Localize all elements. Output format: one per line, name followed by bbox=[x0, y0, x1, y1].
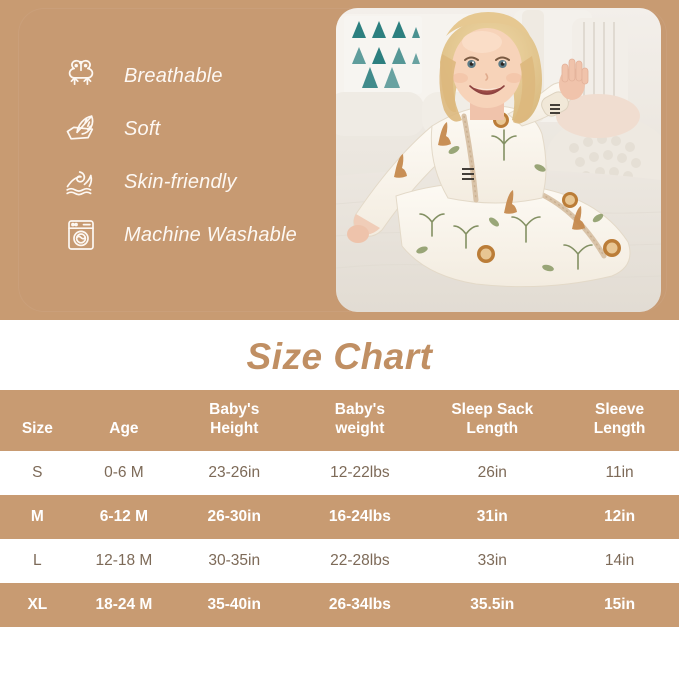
cell-age: 12-18 M bbox=[75, 539, 173, 583]
table-row: M 6-12 M 26-30in 16-24lbs 31in 12in bbox=[0, 495, 679, 539]
feather-soft-icon bbox=[58, 107, 104, 151]
feature-item-breathable: Breathable bbox=[58, 50, 338, 102]
feature-item-skin-friendly: Skin-friendly bbox=[58, 156, 338, 208]
breathable-icon bbox=[58, 54, 104, 98]
cell-sack-length: 35.5in bbox=[424, 583, 560, 627]
cell-weight: 22-28lbs bbox=[295, 539, 424, 583]
cell-weight: 26-34lbs bbox=[295, 583, 424, 627]
column-header-age-label: Age bbox=[109, 420, 138, 437]
cell-sleeve-length: 14in bbox=[560, 539, 679, 583]
feature-list: Breathable Soft bbox=[58, 50, 338, 262]
column-header-sleep-sack-length: Sleep Sack Length bbox=[424, 390, 560, 451]
size-chart-table-body: S 0-6 M 23-26in 12-22lbs 26in 11in M 6-1… bbox=[0, 451, 679, 627]
cell-size: S bbox=[0, 451, 75, 495]
column-header-age: Age bbox=[75, 390, 173, 451]
feature-label: Machine Washable bbox=[124, 224, 297, 247]
product-photo bbox=[336, 8, 661, 312]
feature-item-machine-washable: Machine Washable bbox=[58, 209, 338, 261]
column-header-sack-line2: Length bbox=[466, 420, 518, 437]
size-chart-section: Size Chart Size Age Baby's Height Baby's bbox=[0, 320, 679, 678]
size-chart-table: Size Age Baby's Height Baby's weight Sle… bbox=[0, 390, 679, 627]
column-header-baby-height: Baby's Height bbox=[173, 390, 295, 451]
feature-item-soft: Soft bbox=[58, 103, 338, 155]
column-header-height-line1: Baby's bbox=[209, 401, 259, 418]
column-header-height-line2: Height bbox=[210, 420, 258, 437]
table-row: XL 18-24 M 35-40in 26-34lbs 35.5in 15in bbox=[0, 583, 679, 627]
column-header-sleeve-length: Sleeve Length bbox=[560, 390, 679, 451]
cell-sack-length: 26in bbox=[424, 451, 560, 495]
column-header-sack-line1: Sleep Sack bbox=[451, 401, 533, 418]
column-header-size-label: Size bbox=[22, 420, 53, 437]
cell-height: 26-30in bbox=[173, 495, 295, 539]
feature-label: Skin-friendly bbox=[124, 171, 237, 194]
column-header-weight-line2: weight bbox=[335, 420, 384, 437]
cell-sleeve-length: 11in bbox=[560, 451, 679, 495]
cell-sack-length: 31in bbox=[424, 495, 560, 539]
feature-label: Breathable bbox=[124, 65, 223, 88]
cell-size: M bbox=[0, 495, 75, 539]
cell-sleeve-length: 12in bbox=[560, 495, 679, 539]
cell-sleeve-length: 15in bbox=[560, 583, 679, 627]
cell-height: 35-40in bbox=[173, 583, 295, 627]
product-photo-illustration bbox=[336, 8, 661, 312]
cell-age: 18-24 M bbox=[75, 583, 173, 627]
cell-size: L bbox=[0, 539, 75, 583]
cell-weight: 12-22lbs bbox=[295, 451, 424, 495]
skin-friendly-icon bbox=[58, 160, 104, 204]
size-chart-title: Size Chart bbox=[0, 320, 679, 390]
column-header-weight-line1: Baby's bbox=[335, 401, 385, 418]
table-row: L 12-18 M 30-35in 22-28lbs 33in 14in bbox=[0, 539, 679, 583]
column-header-size: Size bbox=[0, 390, 75, 451]
cell-age: 6-12 M bbox=[75, 495, 173, 539]
cell-size: XL bbox=[0, 583, 75, 627]
cell-age: 0-6 M bbox=[75, 451, 173, 495]
cell-height: 23-26in bbox=[173, 451, 295, 495]
feature-label: Soft bbox=[124, 118, 160, 141]
bottom-spacer bbox=[0, 627, 679, 678]
size-chart-table-header: Size Age Baby's Height Baby's weight Sle… bbox=[0, 390, 679, 451]
washing-machine-icon bbox=[58, 213, 104, 257]
column-header-sleeve-line1: Sleeve bbox=[595, 401, 644, 418]
cell-weight: 16-24lbs bbox=[295, 495, 424, 539]
cell-sack-length: 33in bbox=[424, 539, 560, 583]
column-header-sleeve-line2: Length bbox=[594, 420, 646, 437]
hero-banner: Breathable Soft bbox=[0, 0, 679, 320]
column-header-baby-weight: Baby's weight bbox=[295, 390, 424, 451]
table-row: S 0-6 M 23-26in 12-22lbs 26in 11in bbox=[0, 451, 679, 495]
table-header-row: Size Age Baby's Height Baby's weight Sle… bbox=[0, 390, 679, 451]
cell-height: 30-35in bbox=[173, 539, 295, 583]
